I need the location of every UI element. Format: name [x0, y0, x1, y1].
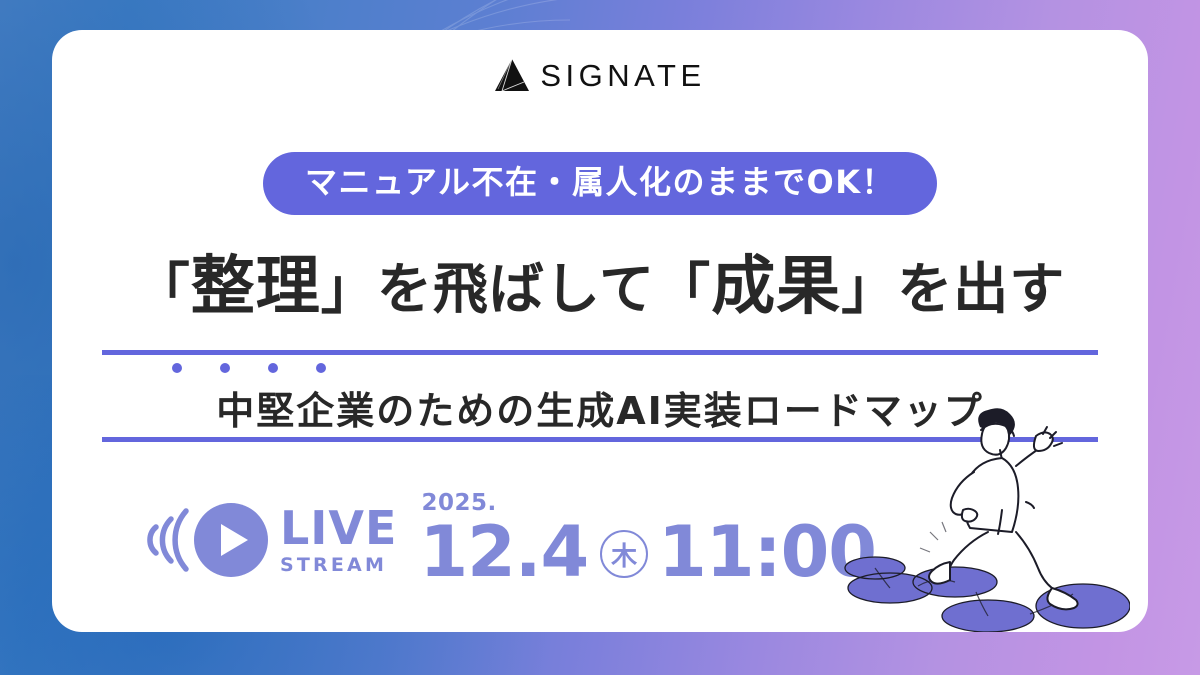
- emphasis-dot: [316, 363, 326, 373]
- headline-open-bracket-1: 「: [135, 257, 191, 321]
- emphasis-dots: [172, 363, 326, 373]
- headline-emphasis-2: 成果: [711, 250, 841, 324]
- live-label: LIVE: [280, 505, 397, 551]
- content-card: SIGNATE マニュアル不在・属人化のままでOK！ 「整理」を飛ばして「成果」…: [52, 30, 1148, 632]
- emphasis-dot: [220, 363, 230, 373]
- poster-background: SIGNATE マニュアル不在・属人化のままでOK！ 「整理」を飛ばして「成果」…: [0, 0, 1200, 675]
- stepping-stones: [845, 557, 1130, 632]
- tagline-badge-wrapper: マニュアル不在・属人化のままでOK！: [52, 152, 1148, 215]
- event-date: 12.4: [419, 517, 588, 587]
- play-triangle-icon: [221, 524, 248, 556]
- motion-lines: [920, 522, 946, 552]
- date-stack: 2025. 12.4: [419, 492, 588, 587]
- page-title: 「整理」を飛ばして「成果」を出す: [52, 252, 1148, 322]
- headline-middle-text: を飛ばして: [377, 257, 655, 321]
- headline-open-bracket-2: 「: [655, 257, 711, 321]
- running-person-stepping-stones-illustration: [830, 390, 1130, 632]
- headline-close-bracket-2: 」: [841, 257, 897, 321]
- tagline-badge: マニュアル不在・属人化のままでOK！: [263, 152, 937, 215]
- brand-logo: SIGNATE: [52, 58, 1148, 92]
- emphasis-dot: [172, 363, 182, 373]
- live-stream-label: LIVE STREAM: [280, 505, 397, 575]
- event-day-of-week: 木: [600, 530, 648, 578]
- stream-label: STREAM: [280, 556, 397, 575]
- play-button-icon: [194, 503, 268, 577]
- headline-tail-text: を出す: [897, 257, 1065, 321]
- signate-pyramid-icon: [494, 58, 530, 92]
- headline-emphasis-1: 整理: [191, 250, 321, 324]
- headline-close-bracket-1: 」: [321, 257, 377, 321]
- event-date-block: 2025. 12.4 木 11:00: [419, 492, 876, 587]
- event-schedule-row: LIVE STREAM 2025. 12.4 木 11:00: [140, 492, 876, 587]
- brand-logo-text: SIGNATE: [540, 60, 705, 91]
- emphasis-dot: [268, 363, 278, 373]
- divider-top: [102, 350, 1098, 355]
- broadcast-waves-icon: [140, 497, 192, 583]
